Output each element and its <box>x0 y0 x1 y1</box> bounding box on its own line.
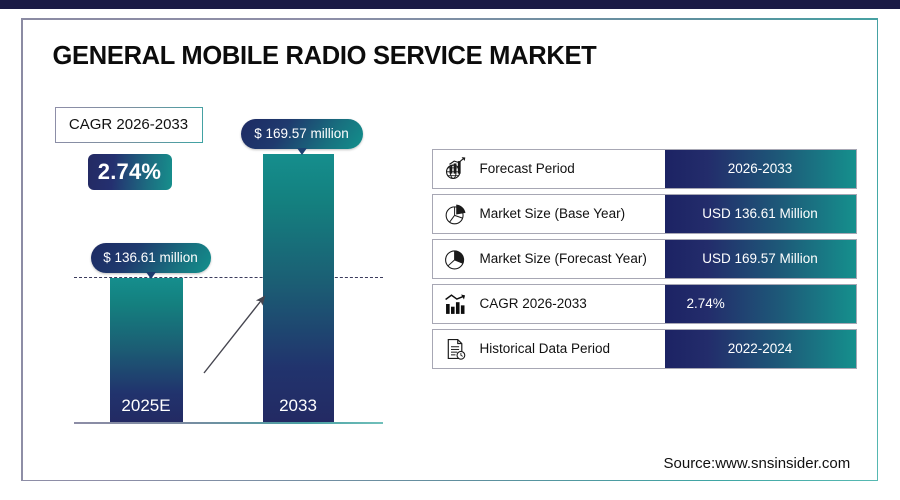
value-callout-2025e: $ 136.61 million <box>91 243 211 273</box>
market-summary-table: Forecast Period 2026-2033 <box>432 149 857 374</box>
pie-chart-exploded-icon <box>441 200 471 228</box>
table-row-label-cell: Forecast Period <box>433 150 665 188</box>
table-row-label-cell: Market Size (Base Year) <box>433 195 665 233</box>
top-accent-bar <box>0 0 900 9</box>
document-clock-icon <box>441 335 471 363</box>
bar-chart-trend-icon <box>441 290 471 318</box>
table-row: Market Size (Forecast Year) USD 169.57 M… <box>432 239 857 279</box>
globe-bar-chart-growth-icon <box>441 155 471 183</box>
table-row-value: USD 136.61 Million <box>702 206 818 221</box>
table-row-value: 2026-2033 <box>728 161 793 176</box>
table-row-value-cell: 2022-2024 <box>665 330 856 368</box>
table-row: Forecast Period 2026-2033 <box>432 149 857 189</box>
table-row-label: CAGR 2026-2033 <box>480 296 587 311</box>
table-row-label-cell: Market Size (Forecast Year) <box>433 240 665 278</box>
table-row-label: Market Size (Forecast Year) <box>480 251 647 266</box>
table-row-value: 2.74% <box>687 296 725 311</box>
growth-arrow-icon <box>198 285 278 380</box>
source-attribution: Source:www.snsinsider.com <box>664 455 851 472</box>
content-frame-inner: GENERAL MOBILE RADIO SERVICE MARKET CAGR… <box>23 20 877 480</box>
table-row-value: USD 169.57 Million <box>702 251 818 266</box>
table-row: Historical Data Period 2022-2024 <box>432 329 857 369</box>
table-row-value-cell: 2026-2033 <box>665 150 856 188</box>
table-row-value-cell: USD 169.57 Million <box>665 240 856 278</box>
table-row-label-cell: Historical Data Period <box>433 330 665 368</box>
bar-category-label-2033: 2033 <box>263 396 334 416</box>
value-callout-2033-text: $ 169.57 million <box>254 126 349 141</box>
table-row-label: Market Size (Base Year) <box>480 206 626 221</box>
table-row-value-cell: USD 136.61 Million <box>665 195 856 233</box>
table-row: Market Size (Base Year) USD 136.61 Milli… <box>432 194 857 234</box>
bar-category-label-2025e: 2025E <box>110 396 183 416</box>
table-row: CAGR 2026-2033 2.74% <box>432 284 857 324</box>
table-row-label: Historical Data Period <box>480 341 611 356</box>
chart-baseline <box>74 422 383 424</box>
table-row-label-cell: CAGR 2026-2033 <box>433 285 665 323</box>
table-row-value: 2022-2024 <box>728 341 793 356</box>
table-row-value-cell: 2.74% <box>665 285 856 323</box>
value-callout-2033: $ 169.57 million <box>241 119 363 149</box>
table-row-label: Forecast Period <box>480 161 575 176</box>
content-frame: GENERAL MOBILE RADIO SERVICE MARKET CAGR… <box>21 18 878 481</box>
bar-chart: 2025E 2033 $ 136.61 million $ 169.57 mil… <box>23 20 443 483</box>
pie-chart-three-segment-icon <box>441 245 471 273</box>
value-callout-2025e-text: $ 136.61 million <box>103 250 198 265</box>
